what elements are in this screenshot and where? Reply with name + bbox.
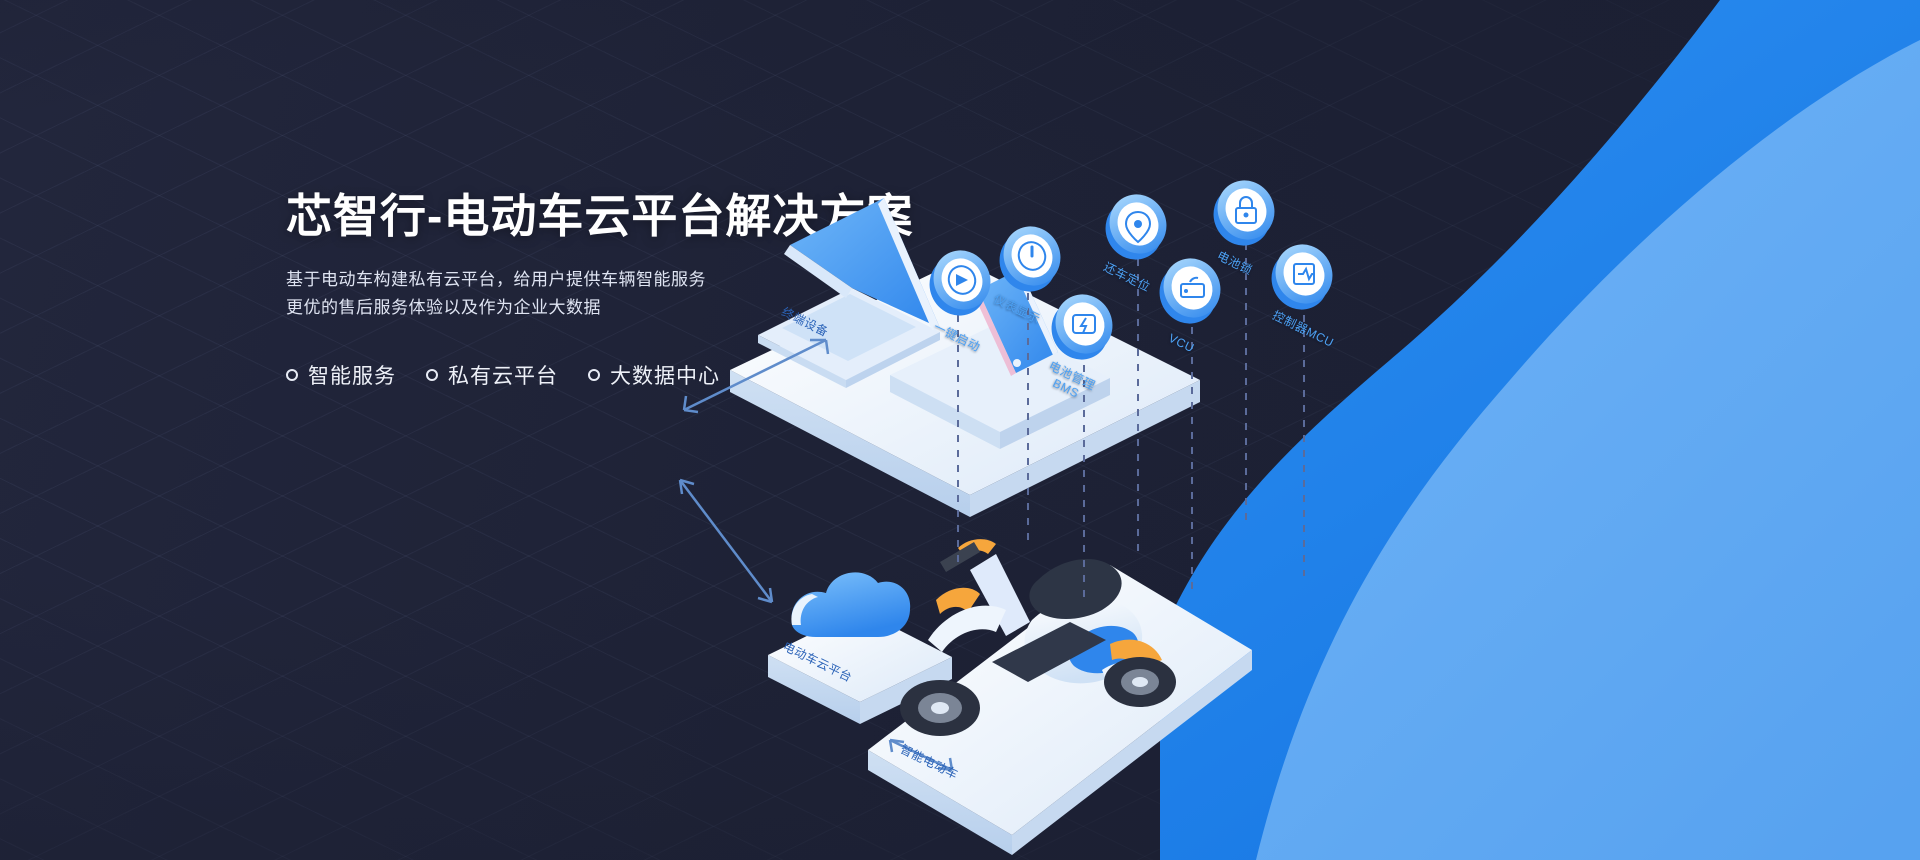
feature-item-smart-service[interactable]: 智能服务 bbox=[286, 360, 396, 390]
illustration-svg bbox=[640, 170, 1920, 860]
circle-outline-icon bbox=[588, 369, 600, 381]
circle-outline-icon bbox=[426, 369, 438, 381]
feature-label: 智能服务 bbox=[308, 360, 396, 390]
circle-outline-icon bbox=[286, 369, 298, 381]
feature-label: 私有云平台 bbox=[448, 360, 558, 390]
feature-item-private-cloud[interactable]: 私有云平台 bbox=[426, 360, 558, 390]
badge-mcu-chip-icon[interactable] bbox=[1261, 234, 1343, 319]
badge-location-pin-icon[interactable] bbox=[1095, 184, 1177, 269]
cloud-icon bbox=[791, 572, 910, 637]
isometric-illustration: 终端设备 电动车云平台 智能电动车 一键启动 仪表显示 电池管理 BMS 还车定… bbox=[640, 170, 1920, 860]
hero-banner: 芯智行-电动车云平台解决方案 基于电动车构建私有云平台，给用户提供车辆智能服务 … bbox=[0, 0, 1920, 860]
badge-lock-icon[interactable] bbox=[1203, 170, 1285, 255]
